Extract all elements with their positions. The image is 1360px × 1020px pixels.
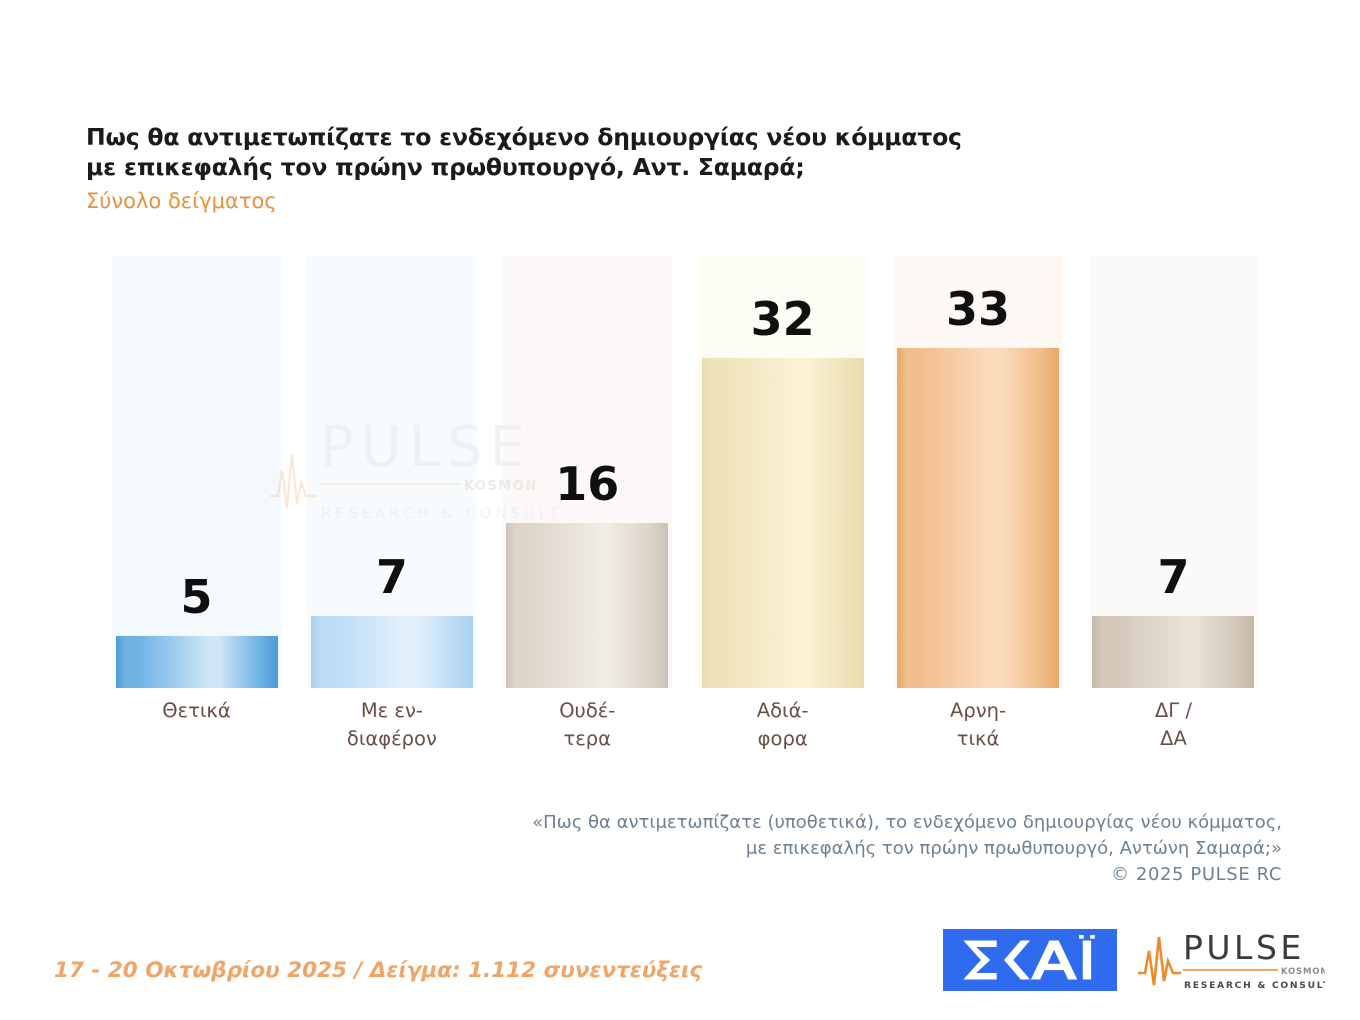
category-label: Με εν-διαφέρον xyxy=(307,697,476,753)
bar-column[interactable]: 33 xyxy=(894,256,1063,688)
bar-value-label: 16 xyxy=(503,461,672,507)
category-label: ΔΓ /ΔΑ xyxy=(1089,697,1258,753)
category-label-line-1: Θετικά xyxy=(112,697,281,725)
footnote-line-2: με επικεφαλής τον πρώην πρωθυπουργό, Αντ… xyxy=(532,836,1282,862)
copyright-text: © 2025 PULSE RC xyxy=(532,862,1282,888)
bar-value-label: 32 xyxy=(698,296,867,342)
bar-column[interactable]: 5 xyxy=(112,256,281,688)
bar[interactable] xyxy=(702,358,864,688)
chart-title-line-1: Πως θα αντιμετωπίζατε το ενδεχόμενο δημι… xyxy=(86,122,1086,152)
bar[interactable] xyxy=(506,523,668,688)
bar-column[interactable]: 7 xyxy=(307,256,476,688)
chart-subtitle: Σύνολο δείγματος xyxy=(86,186,1086,216)
bar[interactable] xyxy=(1092,616,1254,688)
category-label-line-1: ΔΓ / xyxy=(1089,697,1258,725)
category-label-line-1: Με εν- xyxy=(307,697,476,725)
bar[interactable] xyxy=(116,636,278,688)
category-label-line-1: Ουδέ- xyxy=(503,697,672,725)
title-block: Πως θα αντιμετωπίζατε το ενδεχόμενο δημι… xyxy=(86,122,1086,216)
bar-column[interactable]: 16 xyxy=(503,256,672,688)
date-and-sample: 17 - 20 Οκτωβρίου 2025 / Δείγμα: 1.112 σ… xyxy=(54,958,702,983)
bar-value-label: 7 xyxy=(1089,554,1258,600)
bar-column[interactable]: 7 xyxy=(1089,256,1258,688)
category-label-line-2: φορα xyxy=(698,725,867,753)
plot-area: 571632337 xyxy=(112,256,1258,688)
category-label-line-2: διαφέρον xyxy=(307,725,476,753)
skai-logo xyxy=(943,929,1117,991)
footnote-line-1: «Πως θα αντιμετωπίζατε (υποθετικά), το ε… xyxy=(532,810,1282,836)
category-label-line-2: τερα xyxy=(503,725,672,753)
category-label: Θετικά xyxy=(112,697,281,753)
bar-column[interactable]: 32 xyxy=(698,256,867,688)
chart-canvas: Πως θα αντιμετωπίζατε το ενδεχόμενο δημι… xyxy=(0,0,1360,1020)
footnote: «Πως θα αντιμετωπίζατε (υποθετικά), το ε… xyxy=(532,810,1282,888)
category-label-line-2: ΔΑ xyxy=(1089,725,1258,753)
category-label-line-1: Αρνη- xyxy=(894,697,1063,725)
category-label: Ουδέ-τερα xyxy=(503,697,672,753)
pulse-logo: PULSE KOSMON RESEARCH & CONSULTING xyxy=(1135,925,1325,997)
svg-text:KOSMON: KOSMON xyxy=(1281,967,1325,977)
category-label-line-2: τικά xyxy=(894,725,1063,753)
category-label-line-1: Αδιά- xyxy=(698,697,867,725)
category-label: Αρνη-τικά xyxy=(894,697,1063,753)
bar[interactable] xyxy=(311,616,473,688)
bar-value-label: 33 xyxy=(894,286,1063,332)
bar-value-label: 7 xyxy=(307,554,476,600)
bar-value-label: 5 xyxy=(112,574,281,620)
chart-title-line-2: με επικεφαλής τον πρώην πρωθυπουργό, Αντ… xyxy=(86,152,1086,182)
category-axis: ΘετικάΜε εν-διαφέρονΟυδέ-τεραΑδιά-φοραΑρ… xyxy=(112,697,1258,753)
category-label: Αδιά-φορα xyxy=(698,697,867,753)
svg-text:RESEARCH & CONSULTING: RESEARCH & CONSULTING xyxy=(1184,980,1325,991)
bar[interactable] xyxy=(897,348,1059,688)
svg-text:PULSE: PULSE xyxy=(1183,928,1305,967)
